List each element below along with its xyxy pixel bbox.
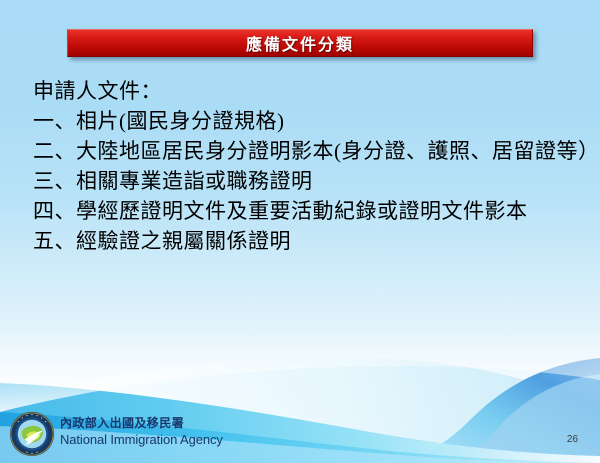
- agency-name-en: National Immigration Agency: [60, 432, 223, 447]
- page-number: 26: [567, 434, 578, 445]
- agency-seal-icon: [9, 411, 55, 457]
- agency-name-zh: 內政部入出國及移民署: [60, 416, 223, 431]
- list-item: 五、經驗證之親屬關係證明: [33, 226, 573, 256]
- document-list: 申請人文件： 一、相片(國民身分證規格) 二、大陸地區居民身分證明影本(身分證、…: [33, 76, 573, 256]
- list-item: 四、學經歷證明文件及重要活動紀錄或證明文件影本: [33, 196, 573, 226]
- title-banner: 應備文件分類: [67, 29, 533, 57]
- list-item: 一、相片(國民身分證規格): [33, 106, 573, 136]
- slide-canvas: 應備文件分類 申請人文件： 一、相片(國民身分證規格) 二、大陸地區居民身分證明…: [0, 0, 600, 463]
- list-item: 二、大陸地區居民身分證明影本(身分證、護照、居留證等）: [33, 136, 573, 166]
- list-item: 申請人文件：: [33, 76, 573, 106]
- page-title: 應備文件分類: [67, 29, 533, 57]
- footer-bar: 內政部入出國及移民署 National Immigration Agency 2…: [0, 405, 600, 463]
- agency-name-block: 內政部入出國及移民署 National Immigration Agency: [60, 416, 223, 447]
- list-item: 三、相關專業造詣或職務證明: [33, 166, 573, 196]
